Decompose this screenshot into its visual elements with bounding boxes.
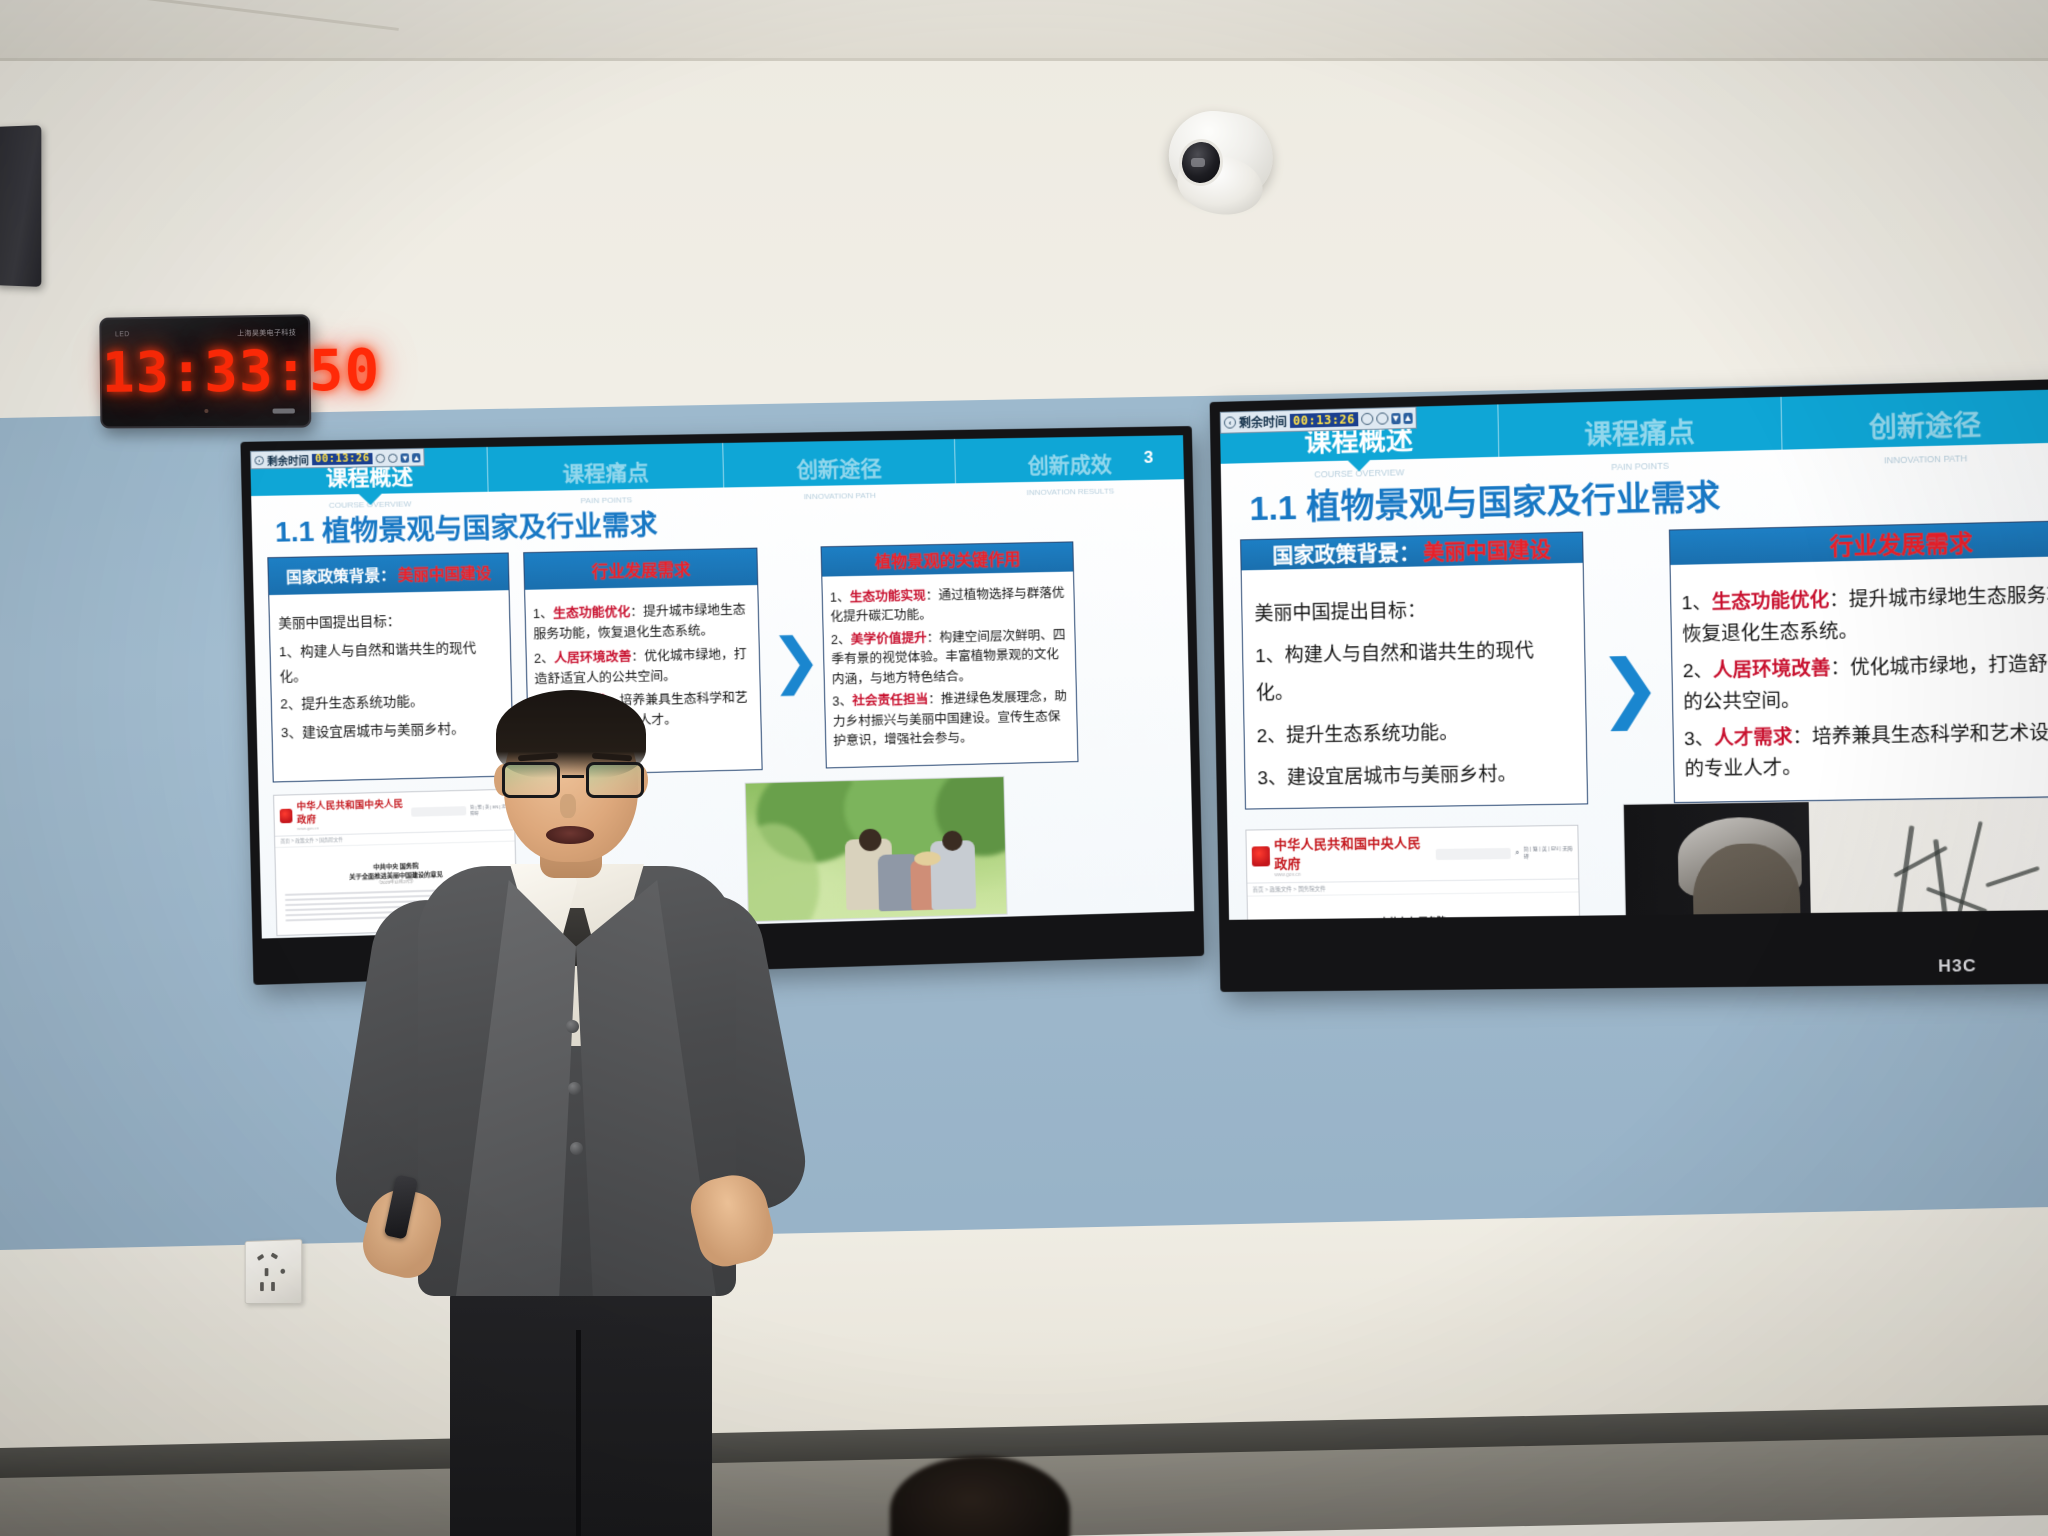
right-interactive-display[interactable]: 课程概述 COURSE OVERVIEW 课程痛点 PAIN POINTS 创新… (1210, 379, 2048, 992)
pause-icon[interactable] (1361, 413, 1373, 425)
chevron-up-icon[interactable]: ▴ (412, 453, 421, 462)
slide-cards-right: 国家政策背景： 美丽中国建设 美丽中国提出目标： 1、构建人与自然和谐共生的现代… (1240, 518, 2048, 809)
stop-icon[interactable] (388, 453, 398, 462)
ceiling (0, 0, 2048, 60)
card-intro: 美丽中国提出目标： (278, 607, 501, 636)
card-head-prefix: 国家政策背景： (1272, 536, 1420, 569)
lecturer-legs (450, 1276, 712, 1536)
card-head-prefix: 国家政策背景： (286, 563, 396, 587)
card-body: 美丽中国提出目标： 1、构建人与自然和谐共生的现代化。 2、提升生态系统功能。 … (1242, 563, 1588, 829)
family-picnic-park-photo (745, 776, 1008, 922)
card-item: 1、生态功能优化：提升城市绿地生态服务功能，恢复退化生态系统。 (1681, 580, 2048, 652)
cardigan-button (566, 1020, 579, 1033)
card-item: 3、人才需求：培养兼具生态科学和艺术设计能力的专业人才。 (1684, 717, 2048, 787)
card-item: 2、人居环境改善：优化城市绿地，打造舒适宜人的公共空间。 (534, 643, 753, 688)
chevron-up-icon[interactable]: ▴ (1403, 412, 1412, 423)
card-industry-demand: 行业发展需求 1、生态功能优化：提升城市绿地生态服务功能，恢复退化生态系统。 2… (1669, 519, 2048, 803)
classroom-scene: LED 上海昊美电子科技 13:33:50 课程概述 COURSE OVERVI… (0, 0, 2048, 1536)
gov-doc-title-1: 中共中央 国务院 (1248, 913, 1579, 920)
chevron-down-icon[interactable]: ▾ (401, 453, 410, 462)
gov-language-links[interactable]: 简 | 繁 | 英 | EN | 无障碍 (1523, 845, 1572, 860)
glasses-icon (500, 762, 646, 800)
cardigan-button (570, 1142, 583, 1155)
tab-label: 创新途径 (1869, 403, 1982, 446)
presentation-timer-left[interactable]: ‹ 剩余时间 00:13:26 ▾ ▴ (250, 448, 425, 469)
pause-icon[interactable] (376, 453, 386, 462)
lecturer-nose (560, 794, 576, 818)
timer-label: 剩余时间 (1239, 413, 1287, 431)
clock-button[interactable] (273, 408, 295, 413)
ceiling-seam (0, 58, 2048, 61)
card-item: 2、美学价值提升：构建空间层次鲜明、四季有景的视觉体验。丰富植物景观的文化内涵，… (831, 626, 1069, 690)
slide-right: 课程概述 COURSE OVERVIEW 课程痛点 PAIN POINTS 创新… (1220, 389, 2048, 920)
card-item: 1、构建人与自然和谐共生的现代化。 (1255, 632, 1573, 713)
gov-search-input[interactable] (1436, 847, 1511, 859)
card-item: 3、建设宜居城市与美丽乡村。 (1257, 755, 1575, 797)
tab-innovation-path[interactable]: 创新途径 INNOVATION PATH (723, 439, 956, 487)
chevron-right-icon: ❯ (769, 625, 822, 697)
card-head-highlight: 美丽中国建设 (1423, 533, 1551, 566)
slide-title-right: 1.1 植物景观与国家及行业需求 (1249, 470, 1721, 531)
card-header: 国家政策背景： 美丽中国建设 (268, 554, 508, 596)
card-item: 3、社会责任担当：推进绿色发展理念，助力乡村振兴与美丽中国建设。宣传生态保护意识… (832, 687, 1070, 751)
lecturer-leg-seam (576, 1330, 581, 1536)
gov-header: 中华人民共和国中央人民政府 www.gov.cn ⌕ 简 | 繁 | 英 | E… (1246, 826, 1578, 884)
gov-title: 中华人民共和国中央人民政府 (1274, 832, 1432, 872)
card-head-highlight: 行业发展需求 (1829, 524, 1973, 562)
card-item: 2、人居环境改善：优化城市绿地，打造舒适宜人的公共空间。 (1683, 648, 2048, 719)
card-head-highlight: 美丽中国建设 (397, 561, 491, 584)
card-body: 1、生态功能实现：通过植物选择与群落优化提升碳汇功能。 2、美学价值提升：构建空… (822, 571, 1077, 767)
lecturer (360, 690, 780, 1536)
led-wall-clock: LED 上海昊美电子科技 13:33:50 (99, 314, 311, 428)
slide-title-left: 1.1 植物景观与国家及行业需求 (275, 503, 658, 550)
chevron-down-icon[interactable]: ▾ (1391, 413, 1400, 424)
chevron-left-icon[interactable]: ‹ (254, 455, 264, 464)
tab-sublabel: INNOVATION PATH (724, 489, 955, 502)
tab-label: 课程痛点 (562, 456, 649, 488)
tab-sublabel: INNOVATION RESULTS (956, 485, 1184, 498)
ink-painting-video: 上海戏剧学院 (1623, 797, 2048, 920)
lecturer-mouth (546, 826, 594, 844)
card-header: 行业发展需求 (524, 549, 757, 590)
wall-power-socket[interactable] (245, 1239, 303, 1304)
tab-label: 创新途径 (796, 452, 882, 484)
slide-page-number: 3 (1113, 435, 1184, 480)
card-head-highlight: 植物景观的关键作用 (874, 546, 1020, 573)
tab-label: 课程痛点 (1584, 410, 1695, 452)
clock-indicator-dot (204, 409, 208, 413)
clock-brand-right: 上海昊美电子科技 (237, 328, 296, 339)
camera-glint (1191, 158, 1205, 167)
tab-sublabel: INNOVATION PATH (1783, 451, 2048, 468)
card-national-policy: 国家政策背景： 美丽中国建设 美丽中国提出目标： 1、构建人与自然和谐共生的现代… (1240, 532, 1588, 810)
gov-website-screenshot-right: 中华人民共和国中央人民政府 www.gov.cn ⌕ 简 | 繁 | 英 | E… (1245, 825, 1581, 920)
tab-innovation-path[interactable]: 创新途径 INNOVATION PATH (1782, 389, 2048, 449)
timer-label: 剩余时间 (267, 451, 309, 467)
clock-time-display: 13:33:50 (102, 344, 309, 402)
clock-brand-left: LED (115, 331, 130, 338)
cardigan-button (568, 1082, 581, 1095)
card-key-role: 植物景观的关键作用 1、生态功能实现：通过植物选择与群落优化提升碳汇功能。 2、… (821, 541, 1079, 768)
card-item: 2、提升生态系统功能。 (1256, 712, 1574, 755)
chevron-right-icon: ❯ (1597, 643, 1662, 731)
tab-label: 创新成效 (1027, 448, 1112, 480)
wall-speaker (0, 125, 41, 287)
dome-security-camera (1163, 112, 1273, 220)
chevron-left-icon[interactable]: ‹ (1224, 416, 1236, 428)
gov-domain: www.gov.cn (1274, 870, 1432, 878)
card-head-highlight: 行业发展需求 (591, 556, 690, 582)
card-body: 1、生态功能优化：提升城市绿地生态服务功能，恢复退化生态系统。 2、人居环境改善… (1671, 555, 2048, 817)
tab-pain-points[interactable]: 课程痛点 PAIN POINTS (488, 443, 724, 492)
national-emblem-icon (280, 808, 293, 823)
card-item: 1、生态功能实现：通过植物选择与群落优化提升碳汇功能。 (830, 583, 1067, 627)
right-display-screen[interactable]: 课程概述 COURSE OVERVIEW 课程痛点 PAIN POINTS 创新… (1220, 389, 2048, 920)
card-intro: 美丽中国提出目标： (1254, 589, 1571, 633)
search-icon[interactable]: ⌕ (1515, 848, 1520, 858)
card-item: 1、构建人与自然和谐共生的现代化。 (279, 635, 503, 689)
timer-value: 00:13:26 (312, 452, 373, 464)
timer-value: 00:13:26 (1290, 412, 1358, 428)
display-brand-logo-right: H3C (1938, 956, 1977, 977)
stop-icon[interactable] (1376, 412, 1388, 424)
card-item: 1、生态功能优化：提升城市绿地生态服务功能，恢复退化生态系统。 (533, 599, 752, 644)
national-emblem-icon (1252, 846, 1270, 866)
tab-pain-points[interactable]: 课程痛点 PAIN POINTS (1498, 397, 1782, 457)
